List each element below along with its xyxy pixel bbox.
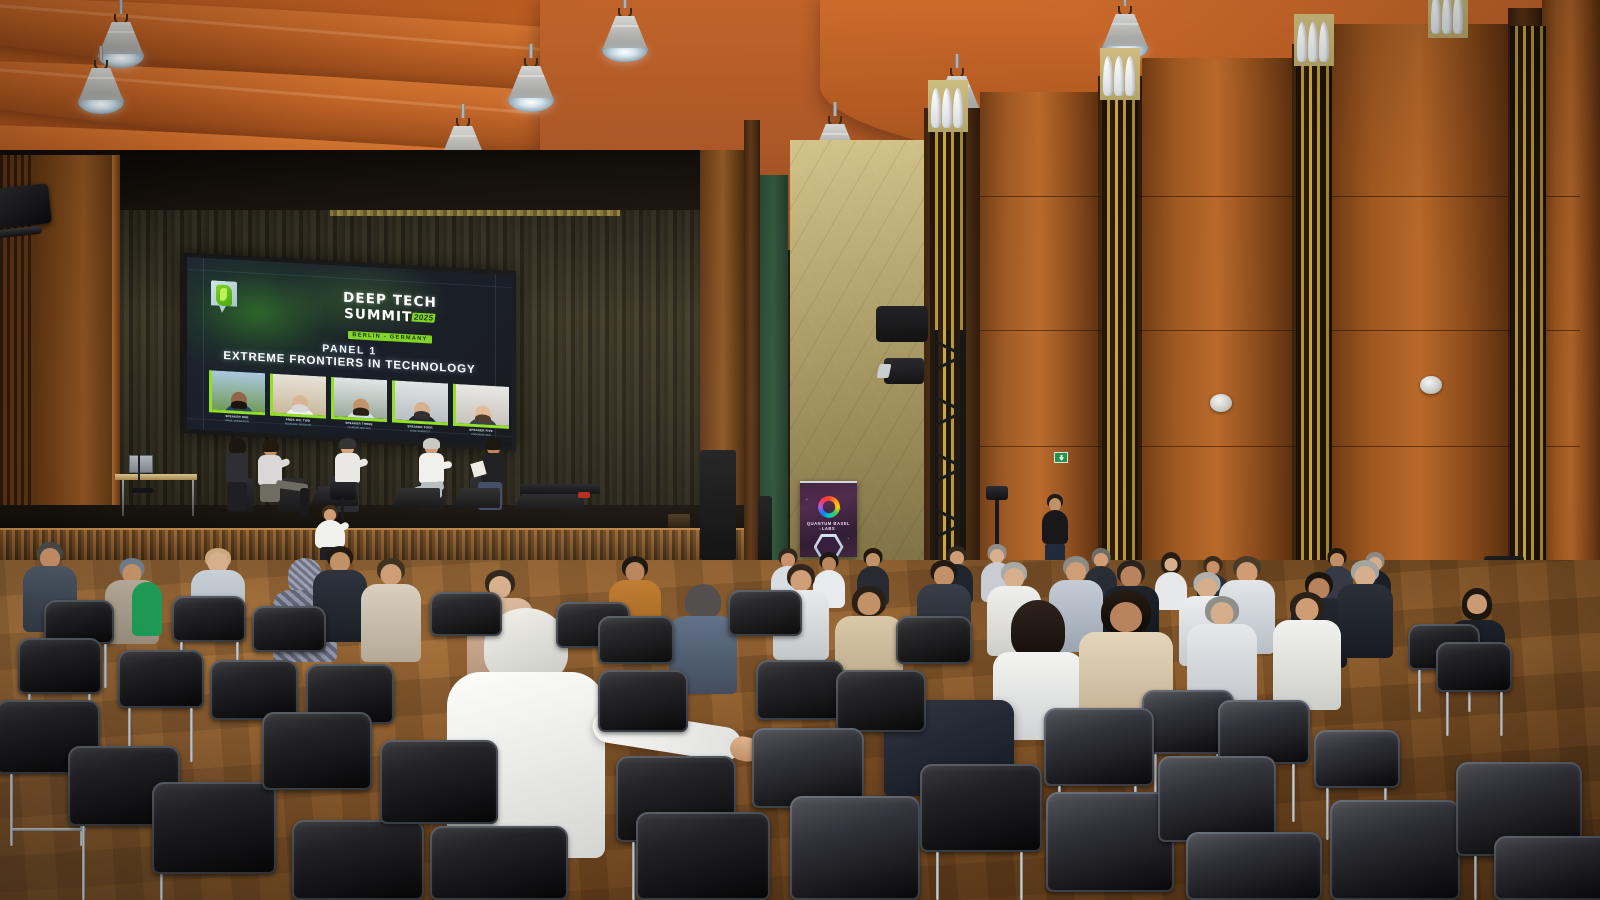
- deep-tech-summit-logo-icon: [211, 280, 237, 313]
- leaf-capital-ornament: [1428, 0, 1468, 38]
- panelist-1: [222, 440, 256, 512]
- gold-wall-strips: [1510, 26, 1546, 640]
- brand-city-badge: BERLIN - GERMANY: [348, 331, 431, 344]
- speaker-photo: [209, 370, 265, 415]
- moving-head-light: [876, 306, 928, 342]
- emergency-exit-icon: [1054, 452, 1068, 463]
- right-wall: [744, 0, 1600, 640]
- slide-content: DEEP TECH SUMMIT2025 BERLIN - GERMANY PA…: [187, 257, 512, 447]
- brand-line-2: SUMMIT: [344, 307, 412, 325]
- banner-subtitle: AG: [800, 527, 857, 531]
- slide-speaker-card: SPEAKER ONEPANEL MODERATOR: [209, 370, 265, 424]
- stage-side-table: [115, 474, 197, 480]
- proscenium-header: [120, 150, 740, 210]
- lighting-truss: [935, 330, 963, 570]
- leaf-capital-ornament: [1294, 14, 1334, 66]
- round-wall-light: [1210, 394, 1232, 412]
- stage-crate: [668, 514, 690, 528]
- speaker-photo: [453, 384, 509, 429]
- panelist-2: [252, 442, 312, 514]
- slide-brand-lockup: DEEP TECH SUMMIT2025 BERLIN - GERMANY: [325, 291, 455, 347]
- laptop-on-table: [129, 455, 153, 473]
- audience-member: [360, 558, 422, 662]
- slide-speaker-strip: SPEAKER ONEPANEL MODERATORPROF. DR. TWOR…: [209, 370, 498, 437]
- speaker-photo: [331, 377, 387, 422]
- round-wall-light: [1420, 376, 1442, 394]
- leaf-capital-ornament: [928, 80, 968, 132]
- stage-spotlight: [884, 358, 924, 384]
- speaker-photo: [270, 374, 326, 419]
- colorful-swirl-logo-icon: [818, 496, 840, 518]
- stool: [132, 488, 154, 493]
- projection-screen: DEEP TECH SUMMIT2025 BERLIN - GERMANY PA…: [183, 253, 516, 452]
- brand-year-badge: 2025: [412, 313, 437, 323]
- microphone-stand: [138, 452, 140, 480]
- audience-member: [1272, 592, 1342, 710]
- leaf-capital-ornament: [1100, 48, 1140, 100]
- camera-head: [986, 486, 1008, 500]
- conference-hall-photo: DEEP TECH SUMMIT2025 BERLIN - GERMANY PA…: [0, 0, 1600, 900]
- slide-speaker-card: SPEAKER FIVEPROGRAM LEAD: [453, 384, 509, 438]
- audience-member: [1336, 560, 1394, 658]
- audience-member: [132, 556, 162, 636]
- speaker-photo: [392, 380, 448, 425]
- red-cable-reel: [578, 492, 590, 498]
- slide-speaker-card: SPEAKER THREEFOUNDER AND CEO: [331, 377, 387, 431]
- pa-speaker-stack: [700, 450, 736, 560]
- broadcast-camera-icon: [0, 183, 52, 229]
- slide-speaker-card: SPEAKER FOURCHIEF SCIENTIST: [392, 380, 448, 434]
- slide-speaker-card: PROF. DR. TWORESEARCH DIRECTOR: [270, 374, 326, 428]
- sponsor-banner: QUANTUM BASEL LABS AG: [800, 481, 857, 557]
